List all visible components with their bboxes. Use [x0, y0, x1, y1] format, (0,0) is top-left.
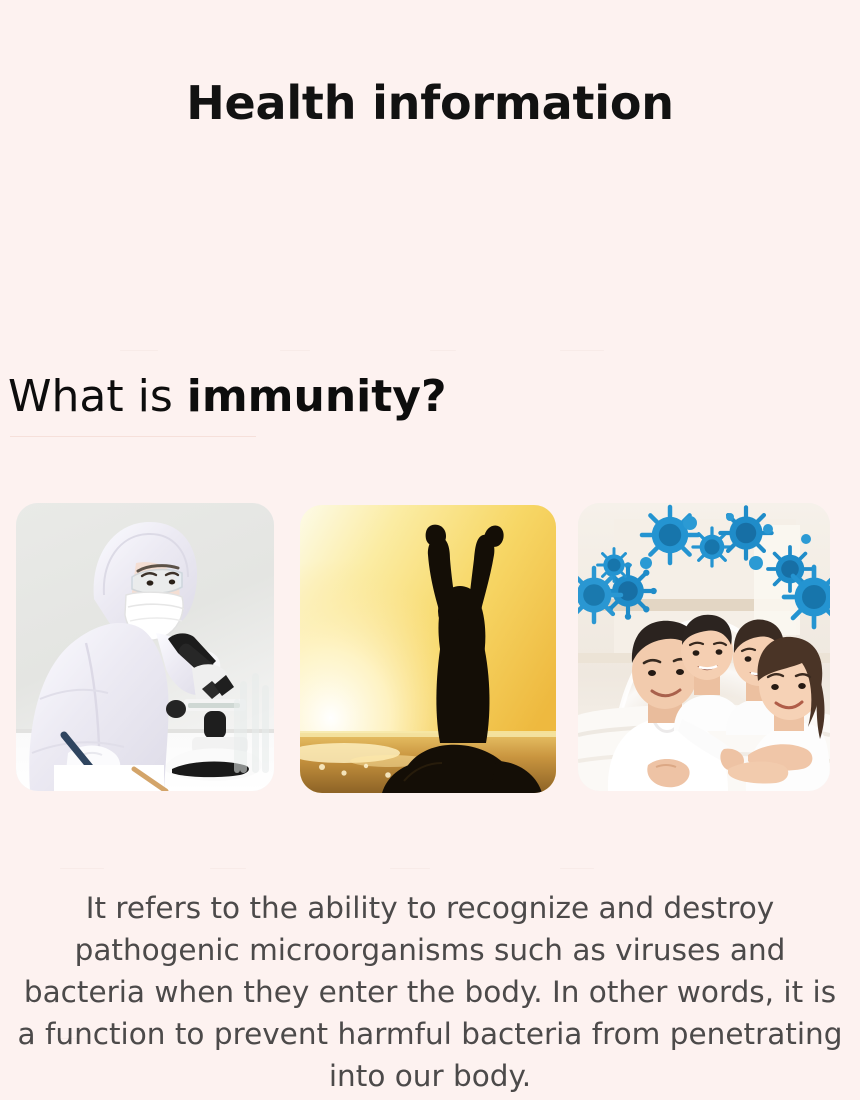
slide-root: Health information What is immunity?	[0, 0, 860, 1100]
body-paragraph: It refers to the ability to recognize an…	[14, 888, 846, 1097]
ghost-artifact	[560, 868, 594, 869]
sunset-silhouette-arms-raised-photo	[300, 505, 556, 793]
family-virus-shield-photo	[578, 503, 830, 791]
lab-researcher-microscope-photo	[16, 503, 274, 791]
ghost-artifact	[60, 868, 104, 869]
ghost-artifact	[390, 868, 430, 869]
ghost-artifact	[210, 868, 246, 869]
